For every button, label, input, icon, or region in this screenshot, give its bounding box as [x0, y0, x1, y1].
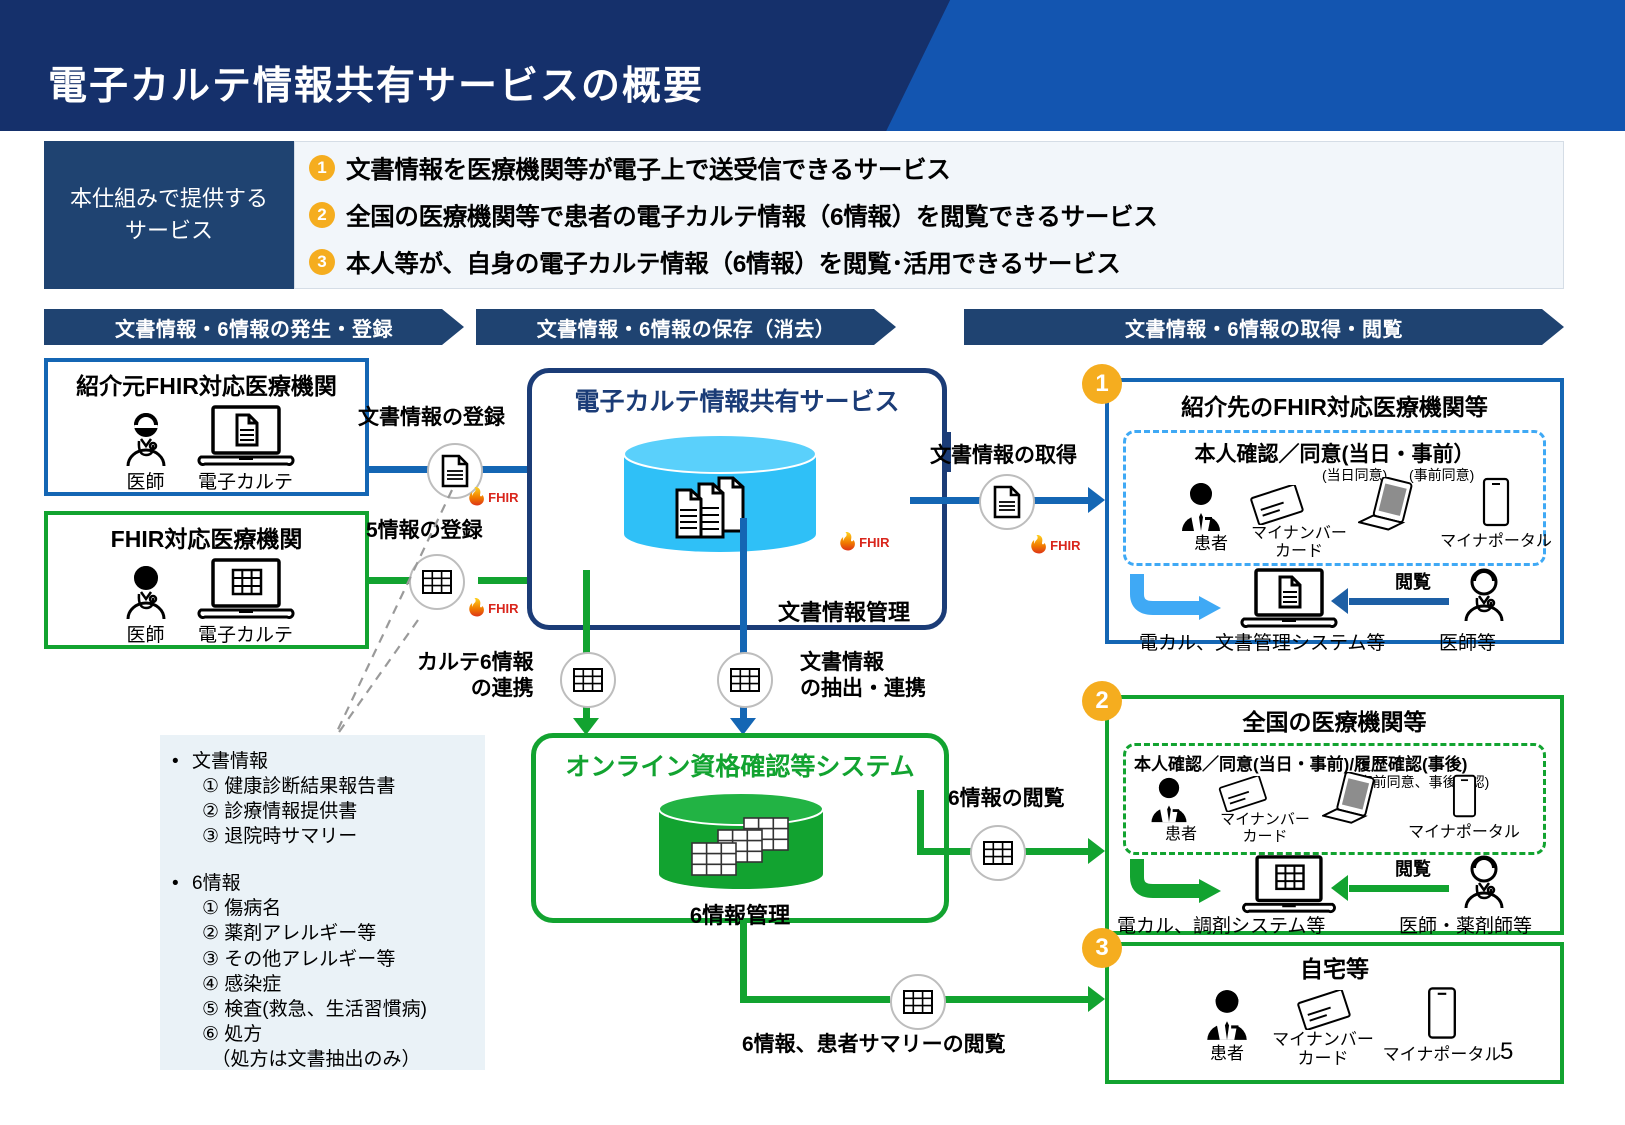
legend-bullet-1: • — [172, 749, 192, 774]
patient-label-1: 患者 — [1176, 529, 1246, 554]
doctor-icon-group-2: 医師 — [119, 564, 173, 647]
view-arrow-2 — [1331, 875, 1348, 901]
doctor-icon — [1457, 566, 1511, 622]
doctor-label-1: 医師 — [119, 467, 173, 494]
online-system-title: オンライン資格確認等システム — [536, 747, 944, 783]
service-item-3: 3 本人等が、自身の電子カルテ情報（6情報）を閲覧･活用できるサービス — [309, 245, 1563, 280]
service-number-3: 3 — [309, 249, 335, 275]
mynumber-label-1a: マイナンバー — [1244, 525, 1354, 543]
card-reader-group-1 — [1358, 477, 1420, 535]
label-doc-extract: 文書情報 の抽出・連携 — [800, 650, 926, 701]
flow-line-karte6-v1 — [583, 570, 590, 662]
myna-portal-group-2: マイナポータル — [1404, 774, 1524, 842]
patient-icon — [1176, 481, 1226, 533]
banner-center: 文書情報・6情報の保存（消去） — [476, 309, 896, 345]
service-box-title: 電子カルテ情報共有サービス — [532, 382, 942, 418]
actor-label-1: 医師等 — [1439, 628, 1496, 655]
table-icon — [730, 668, 760, 692]
patient-label-2: 患者 — [1146, 820, 1216, 844]
page-title: 電子カルテ情報共有サービスの概要 — [48, 55, 704, 111]
label-doc-acquire: 文書情報の取得 — [930, 443, 1077, 469]
legend-group-1-title: 文書情報 — [192, 749, 268, 774]
myna-portal-group-3: マイナポータル — [1377, 986, 1507, 1065]
table-badge-6view — [970, 825, 1026, 881]
nationwide-institutions-box: 全国の医療機関等 本人確認／同意(当日・事前)/履歴確認(事後) (事前同意、事… — [1105, 695, 1564, 935]
legend-item: ⑥ 処方 — [172, 1022, 475, 1047]
flame-icon: 🔥 — [1028, 535, 1049, 555]
laptop-document-icon — [197, 405, 295, 467]
system-label-2: 電カル、調剤システム等 — [1117, 911, 1325, 938]
doc-store-label: 文書情報管理 — [778, 595, 910, 627]
myna-portal-label-2: マイナポータル — [1404, 818, 1524, 842]
online-qualification-system-box: オンライン資格確認等システム 6情報管理 — [531, 733, 949, 923]
legend-item: （処方は文書抽出のみ） — [172, 1047, 475, 1072]
mynumber-card-group-2: マイナンバー カード — [1212, 776, 1318, 845]
system-laptop-group-1 — [1239, 568, 1339, 630]
myna-portal-label-1: マイナポータル — [1436, 527, 1556, 551]
step-badge-1: 1 — [1082, 364, 1122, 404]
doctor-icon — [119, 564, 173, 620]
mynumber-card-group-1: マイナンバー カード — [1244, 485, 1354, 560]
patient-group-3: 患者 — [1189, 988, 1265, 1064]
smartphone-icon — [1481, 477, 1511, 527]
label-doc-register: 文書情報の登録 — [358, 405, 505, 431]
ehr-label-2: 電子カルテ — [197, 620, 295, 647]
nationwide-institutions-title: 全国の医療機関等 — [1109, 703, 1560, 737]
patient-icon — [1146, 776, 1192, 824]
flow-line-6view-h2 — [1020, 848, 1092, 855]
page-header: 電子カルテ情報共有サービスの概要 — [0, 0, 1625, 131]
myna-portal-group-1: マイナポータル — [1436, 477, 1556, 551]
mynumber-label-3b: カード — [1267, 1049, 1379, 1068]
referring-institution-box: 紹介元FHIR対応医療機関 医師 — [44, 358, 369, 496]
doctor-group-1 — [1457, 566, 1511, 622]
consent-title-1: 本人確認／同意(当日・事前） — [1126, 438, 1543, 468]
fhir-logo-3: 🔥 FHIR — [837, 532, 890, 552]
legend-group-2-title-row: • 6情報 — [172, 871, 475, 896]
view-label-2: 閲覧 — [1395, 855, 1431, 881]
label-karte6-link-l2: の連携 — [417, 676, 534, 702]
laptop-table-icon — [1239, 855, 1339, 915]
table-icon — [903, 990, 933, 1014]
flow-line-doc-1 — [369, 466, 429, 473]
mynumber-label-2a: マイナンバー — [1212, 812, 1318, 829]
referring-institution-title: 紹介元FHIR対応医療機関 — [48, 367, 365, 401]
label-karte6-link-l1: カルテ6情報 — [417, 650, 534, 676]
consent-to-system-arrow-1 — [1127, 570, 1237, 626]
ehr-label-1: 電子カルテ — [197, 467, 295, 494]
view-label-1: 閲覧 — [1395, 568, 1431, 594]
flow-arrow-docacq — [1088, 487, 1105, 513]
doctor-icon — [119, 411, 173, 467]
flow-arrow-summary — [1088, 986, 1105, 1012]
system-label-1: 電カル、文書管理システム等 — [1139, 628, 1385, 655]
table-icon — [983, 841, 1013, 865]
myna-portal-label-3: マイナポータル — [1377, 1040, 1507, 1065]
banner-left: 文書情報・6情報の発生・登録 — [44, 309, 464, 345]
system-laptop-group-2 — [1239, 855, 1339, 915]
legend-item: ⑤ 検査(救急、生活習慣病) — [172, 997, 475, 1022]
patient-group-2: 患者 — [1146, 776, 1216, 844]
view-line-2 — [1349, 885, 1449, 892]
service-text-1: 文書情報を医療機関等が電子上で送受信できるサービス — [346, 151, 951, 186]
doctor-group-2 — [1457, 853, 1511, 909]
mynumber-label-1b: カード — [1244, 543, 1354, 561]
table-badge-docextract — [717, 652, 773, 708]
label-doc-extract-l2: の抽出・連携 — [800, 676, 926, 702]
service-text-2: 全国の医療機関等で患者の電子カルテ情報（6情報）を閲覧できるサービス — [346, 198, 1157, 233]
patient-icon — [1201, 988, 1253, 1042]
label-6info-summary-view: 6情報、患者サマリーの閲覧 — [742, 1032, 1006, 1058]
page-number: 5 — [1500, 1038, 1513, 1066]
service-number-1: 1 — [309, 155, 335, 181]
view-arrow-1 — [1331, 588, 1348, 614]
mynumber-card-icon — [1244, 485, 1308, 525]
document-icon — [993, 485, 1021, 519]
doctor-icon — [1457, 853, 1511, 909]
legend-box: • 文書情報 ① 健康診断結果報告書 ② 診療情報提供書 ③ 退院時サマリー •… — [160, 735, 485, 1070]
mynumber-label-2b: カード — [1212, 829, 1318, 846]
flow-line-summary-v — [740, 920, 747, 1000]
flow-line-6view-v — [917, 790, 924, 852]
patient-label-3: 患者 — [1189, 1039, 1265, 1064]
label-karte6-link: カルテ6情報 の連携 — [417, 650, 534, 701]
label-doc-extract-l1: 文書情報 — [800, 650, 926, 676]
consent-to-system-arrow-2 — [1127, 857, 1237, 913]
table-stack-icon — [688, 816, 798, 880]
ehr-sharing-service-box: 電子カルテ情報共有サービス 🔥 FHIR 文書情報管理 — [527, 368, 947, 630]
header-accent-shape — [882, 0, 1625, 131]
ehr-icon-group-2: 電子カルテ — [197, 558, 295, 647]
table-icon — [573, 668, 603, 692]
flow-line-6view-h1 — [917, 848, 972, 855]
card-reader-group-2 — [1322, 772, 1382, 828]
legend-item: ③ その他アレルギー等 — [172, 947, 475, 972]
fhir-logo-4: 🔥 FHIR — [1028, 535, 1081, 555]
service-text-3: 本人等が、自身の電子カルテ情報（6情報）を閲覧･活用できるサービス — [346, 245, 1121, 280]
mynumber-label-3a: マイナンバー — [1267, 1030, 1379, 1049]
home-box: 自宅等 患者 マイナンバー カード — [1105, 942, 1564, 1084]
mynumber-card-icon — [1212, 776, 1272, 812]
flow-line-docextract-v1 — [740, 518, 747, 662]
ehr-icon-group-1: 電子カルテ — [197, 405, 295, 494]
service-item-2: 2 全国の医療機関等で患者の電子カルテ情報（6情報）を閲覧できるサービス — [309, 198, 1563, 233]
patient-group-1: 患者 — [1176, 481, 1246, 554]
table-badge-karte6 — [560, 652, 616, 708]
legend-bullet-2: • — [172, 871, 192, 896]
legend-group-2-title: 6情報 — [192, 871, 241, 896]
flame-icon: 🔥 — [837, 532, 858, 552]
services-label-line1: 本仕組みで提供する — [70, 183, 268, 215]
view-line-1 — [1349, 598, 1449, 605]
services-summary-label: 本仕組みで提供する サービス — [44, 141, 294, 289]
fhir-text: FHIR — [859, 535, 889, 550]
doctor-label-2: 医師 — [119, 620, 173, 647]
laptop-document-icon — [1239, 568, 1339, 630]
card-reader-icon — [1322, 772, 1382, 828]
legend-item: ④ 感染症 — [172, 972, 475, 997]
destination-institution-box: 紹介先のFHIR対応医療機関等 本人確認／同意(当日・事前） (当日同意) (事… — [1105, 378, 1564, 644]
doc-badge-acquire — [979, 474, 1035, 530]
actor-label-2: 医師・薬剤師等 — [1399, 911, 1532, 938]
mynumber-card-group-3: マイナンバー カード — [1267, 990, 1379, 1068]
flow-line-summary-h2 — [940, 996, 1092, 1003]
services-label-line2: サービス — [70, 215, 268, 247]
legend-item: ① 傷病名 — [172, 896, 475, 921]
smartphone-icon — [1426, 986, 1458, 1040]
mynumber-card-icon — [1291, 990, 1355, 1030]
step-badge-3: 3 — [1082, 928, 1122, 968]
doctor-icon-group-1: 医師 — [119, 411, 173, 494]
legend-item: ① 健康診断結果報告書 — [172, 774, 475, 799]
step-badge-2: 2 — [1082, 681, 1122, 721]
banner-right: 文書情報・6情報の取得・閲覧 — [964, 309, 1564, 345]
card-reader-icon — [1358, 477, 1420, 535]
flow-line-docacq-h1 — [910, 497, 982, 504]
legend-item: ③ 退院時サマリー — [172, 824, 475, 849]
legend-item: ② 診療情報提供書 — [172, 799, 475, 824]
fhir-text: FHIR — [1050, 538, 1080, 553]
destination-institution-title: 紹介先のFHIR対応医療機関等 — [1109, 388, 1560, 422]
legend-group-1-title-row: • 文書情報 — [172, 749, 475, 774]
legend-item: ② 薬剤アレルギー等 — [172, 921, 475, 946]
flow-line-docacq-h2 — [1030, 497, 1092, 504]
flow-arrow-6view — [1088, 838, 1105, 864]
service-number-2: 2 — [309, 202, 335, 228]
smartphone-icon — [1451, 774, 1478, 818]
services-summary: 本仕組みで提供する サービス 1 文書情報を医療機関等が電子上で送受信できるサー… — [44, 141, 1564, 289]
laptop-table-icon — [197, 558, 295, 620]
home-title: 自宅等 — [1109, 950, 1560, 984]
table-badge-summary — [890, 974, 946, 1030]
flow-line-summary-h1 — [740, 996, 890, 1003]
service-item-1: 1 文書情報を医療機関等が電子上で送受信できるサービス — [309, 151, 1563, 186]
services-list: 1 文書情報を医療機関等が電子上で送受信できるサービス 2 全国の医療機関等で患… — [294, 141, 1564, 289]
documents-stack-icon — [671, 474, 767, 540]
label-6info-view: 6情報の閲覧 — [948, 786, 1065, 812]
legend-leader-lines — [300, 480, 500, 750]
